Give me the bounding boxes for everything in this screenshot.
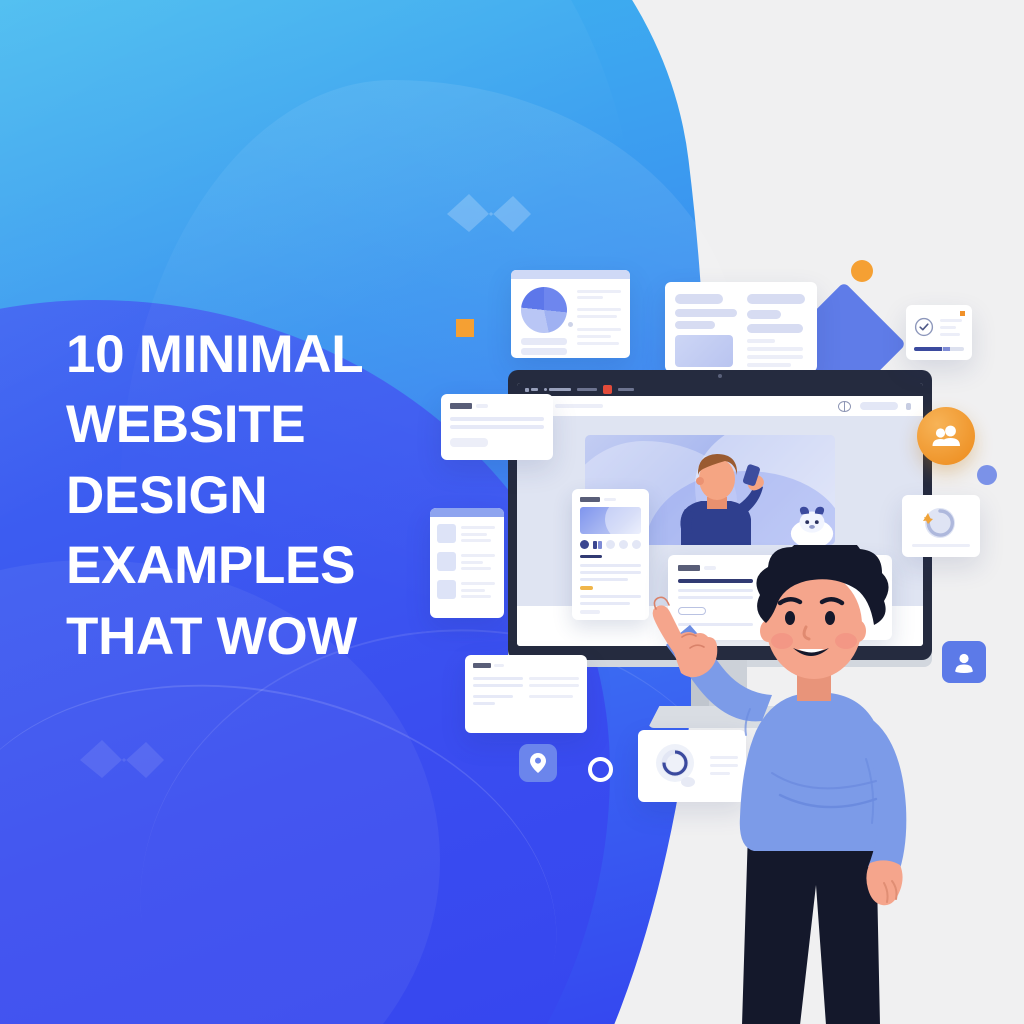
headline-line-5: THAT WOW [66, 602, 466, 672]
map-pin-icon [530, 753, 546, 774]
zigzag-top-icon [443, 190, 535, 248]
users-icon [931, 424, 961, 448]
page-title: 10 MINIMAL WEBSITE DESIGN EXAMPLES THAT … [66, 320, 466, 672]
globe-icon[interactable] [838, 401, 851, 412]
zigzag-bottom-icon [76, 736, 168, 794]
menu-icon[interactable] [906, 403, 911, 410]
poster-canvas: 10 MINIMAL WEBSITE DESIGN EXAMPLES THAT … [0, 0, 1024, 1024]
document-card [665, 282, 817, 372]
headline-line-2: WEBSITE [66, 390, 466, 460]
pie-chart-icon [521, 287, 567, 333]
list-card [430, 508, 504, 618]
headline-line-3: DESIGN [66, 461, 466, 531]
pie-chart-card [511, 270, 630, 358]
check-circle-icon [914, 317, 934, 337]
headline-line-4: EXAMPLES [66, 531, 466, 601]
notification-dot-icon [960, 311, 965, 316]
white-ring-icon [588, 757, 613, 782]
icon-chip-tag[interactable] [593, 541, 602, 549]
headline-line-1: 10 MINIMAL [66, 320, 466, 390]
pointing-person-illustration [630, 545, 970, 1024]
orange-dot-icon [851, 260, 873, 282]
card-header-bar [511, 270, 630, 279]
webcam-icon [718, 374, 722, 378]
location-badge[interactable] [519, 744, 557, 782]
users-badge[interactable] [917, 407, 975, 465]
card-header-bar [430, 508, 504, 517]
periwinkle-dot-icon [977, 465, 997, 485]
record-dot-icon [603, 385, 612, 394]
pet-illustration [783, 501, 835, 545]
app-navbar[interactable] [517, 396, 923, 416]
browser-toolbar[interactable] [517, 383, 923, 396]
icon-chip-active[interactable] [580, 540, 589, 549]
checkmark-progress-card [906, 305, 972, 360]
refresh-chart-icon [918, 504, 960, 542]
card-thumbnail [580, 507, 641, 534]
save-dialog-card [441, 394, 553, 460]
progress-bar [914, 347, 964, 351]
search-field[interactable] [860, 402, 898, 410]
text-card [465, 655, 587, 733]
